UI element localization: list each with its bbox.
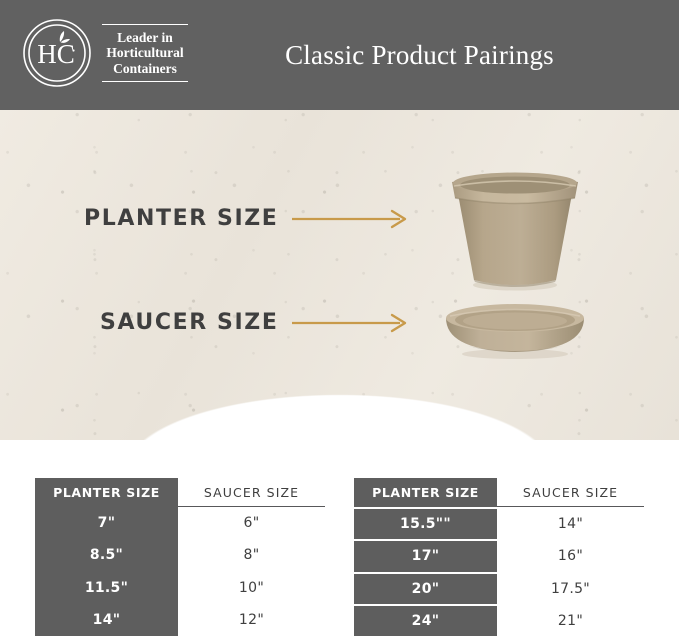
tagline-line-1: Leader in <box>102 30 188 46</box>
callout-planter-size: PLANTER SIZE <box>84 206 410 231</box>
size-tables: PLANTER SIZE SAUCER SIZE 7" 6" 8.5" 8" 1… <box>0 478 679 636</box>
cell-saucer-size: 6" <box>178 507 325 539</box>
cell-saucer-size: 14" <box>497 509 644 539</box>
brand-lockup: HC Leader in Horticultural Containers <box>22 18 188 88</box>
tagline-rule-top <box>102 24 188 25</box>
arrow-right-icon <box>292 313 410 333</box>
hc-circle-leaf-logo-icon: HC <box>22 18 92 88</box>
brand-tagline: Leader in Horticultural Containers <box>102 21 188 86</box>
column-header-planter-size: PLANTER SIZE <box>35 478 178 507</box>
planter-pot-image <box>440 168 590 293</box>
table-body: 15.5"" 14" 17" 16" 20" 17.5" 24" 21" <box>354 509 644 636</box>
table-row: 17" 16" <box>354 541 644 571</box>
size-table-large: PLANTER SIZE SAUCER SIZE 15.5"" 14" 17" … <box>354 478 644 636</box>
table-row: 20" 17.5" <box>354 574 644 604</box>
column-header-saucer-size: SAUCER SIZE <box>497 478 644 507</box>
column-header-planter-size: PLANTER SIZE <box>354 478 497 507</box>
cell-saucer-size: 17.5" <box>497 574 644 604</box>
page-header: HC Leader in Horticultural Containers Cl… <box>0 0 679 110</box>
callout-planter-label: PLANTER SIZE <box>84 206 278 231</box>
cell-planter-size: 8.5" <box>35 539 178 571</box>
saucer-dish-image <box>438 300 593 362</box>
cell-saucer-size: 21" <box>497 606 644 636</box>
cell-planter-size: 15.5"" <box>354 509 497 539</box>
table-row: 8.5" 8" <box>35 539 325 571</box>
table-row: 11.5" 10" <box>35 572 325 604</box>
cell-planter-size: 7" <box>35 507 178 539</box>
table-row: 14" 12" <box>35 604 325 636</box>
cell-planter-size: 24" <box>354 606 497 636</box>
cell-planter-size: 14" <box>35 604 178 636</box>
table-row: 15.5"" 14" <box>354 509 644 539</box>
cell-saucer-size: 8" <box>178 539 325 571</box>
table-row: 24" 21" <box>354 606 644 636</box>
table-body: 7" 6" 8.5" 8" 11.5" 10" 14" 12" <box>35 507 325 636</box>
cell-planter-size: 20" <box>354 574 497 604</box>
table-header-row: PLANTER SIZE SAUCER SIZE <box>35 478 325 507</box>
tagline-line-2: Horticultural <box>102 45 188 61</box>
arrow-right-icon <box>292 209 410 229</box>
callout-saucer-size: SAUCER SIZE <box>100 310 410 335</box>
callout-saucer-label: SAUCER SIZE <box>100 310 278 335</box>
cell-planter-size: 11.5" <box>35 572 178 604</box>
column-header-saucer-size: SAUCER SIZE <box>178 478 325 507</box>
tagline-line-3: Containers <box>102 61 188 77</box>
cell-saucer-size: 12" <box>178 604 325 636</box>
cell-saucer-size: 10" <box>178 572 325 604</box>
cell-planter-size: 17" <box>354 541 497 571</box>
table-row: 7" 6" <box>35 507 325 539</box>
table-header-row: PLANTER SIZE SAUCER SIZE <box>354 478 644 507</box>
cell-saucer-size: 16" <box>497 541 644 571</box>
svg-text:HC: HC <box>37 39 75 69</box>
size-table-small: PLANTER SIZE SAUCER SIZE 7" 6" 8.5" 8" 1… <box>35 478 325 636</box>
tagline-rule-bottom <box>102 81 188 82</box>
